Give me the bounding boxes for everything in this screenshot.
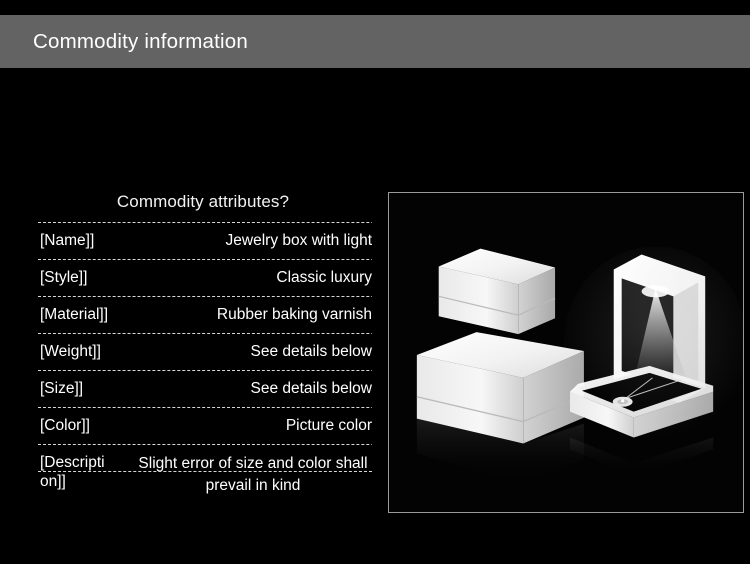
attribute-key: [Weight]] bbox=[40, 342, 136, 361]
attribute-key: [Material]] bbox=[40, 305, 136, 324]
attribute-key: [Color]] bbox=[40, 416, 136, 435]
commodity-information-page: Commodity information Commodity attribut… bbox=[0, 0, 750, 564]
attribute-value: Jewelry box with light bbox=[134, 231, 372, 250]
attribute-key: [Description]] bbox=[40, 453, 112, 491]
attribute-value: See details below bbox=[134, 379, 372, 398]
attribute-value: See details below bbox=[134, 342, 372, 361]
table-row: [Weight]] See details below bbox=[38, 333, 434, 370]
product-image bbox=[388, 192, 744, 513]
ambient-glow bbox=[564, 247, 743, 438]
table-row: [Name]] Jewelry box with light bbox=[38, 222, 434, 259]
page-title: Commodity information bbox=[33, 30, 248, 54]
product-illustration bbox=[389, 193, 743, 512]
attribute-value: Classic luxury bbox=[134, 268, 372, 287]
table-row: [Material]] Rubber baking varnish bbox=[38, 296, 434, 333]
attribute-value: Picture color bbox=[134, 416, 372, 435]
header-bar: Commodity information bbox=[0, 15, 750, 68]
attributes-table: [Name]] Jewelry box with light [Style]] … bbox=[38, 222, 434, 507]
attribute-key: [Size]] bbox=[40, 379, 136, 398]
table-row: [Description]] Slight error of size and … bbox=[38, 444, 434, 507]
attribute-value: Slight error of size and color shall pre… bbox=[134, 453, 372, 497]
attribute-key: [Style]] bbox=[40, 268, 136, 287]
attributes-heading: Commodity attributes? bbox=[38, 190, 368, 214]
table-row: [Style]] Classic luxury bbox=[38, 259, 434, 296]
attribute-key: [Name]] bbox=[40, 231, 136, 250]
table-row: [Size]] See details below bbox=[38, 370, 434, 407]
table-row: [Color]] Picture color bbox=[38, 407, 434, 444]
attribute-value: Rubber baking varnish bbox=[134, 305, 372, 324]
commodity-attributes-panel: Commodity attributes? [Name]] Jewelry bo… bbox=[38, 190, 434, 507]
